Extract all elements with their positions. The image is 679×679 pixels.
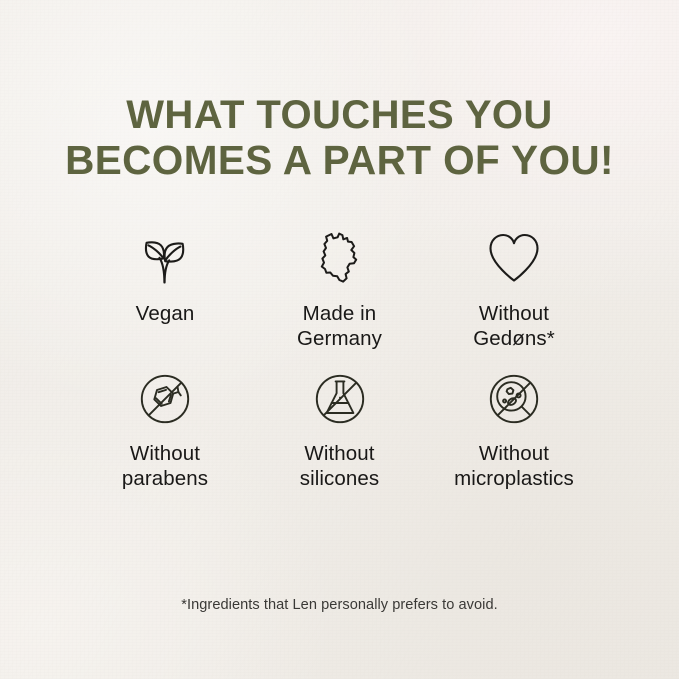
claim-vegan: Vegan	[78, 228, 252, 327]
claim-without-microplastics: Without microplastics	[427, 369, 601, 491]
claim-label: Without Gedøns*	[473, 302, 555, 351]
claim-without-silicones: Without silicones	[253, 369, 427, 491]
claims-row-1: Vegan Made in Germany Without Gedø	[78, 228, 601, 351]
claim-label: Without parabens	[122, 442, 208, 491]
claims-grid: Vegan Made in Germany Without Gedø	[78, 228, 601, 491]
claim-label: Without silicones	[300, 442, 380, 491]
no-silicones-flask-icon	[311, 369, 369, 429]
no-microplastics-magnifier-icon	[485, 369, 543, 429]
headline-line-2: BECOMES A PART OF YOU!	[0, 138, 679, 183]
claims-row-2: Without parabens Without s	[78, 369, 601, 491]
claim-without-gedoens: Without Gedøns*	[427, 228, 601, 351]
product-claims-infographic: WHAT TOUCHES YOU BECOMES A PART OF YOU!	[0, 0, 679, 679]
headline-line-1: WHAT TOUCHES YOU	[0, 93, 679, 138]
claim-label: Vegan	[136, 302, 195, 327]
footnote: *Ingredients that Len personally prefers…	[0, 597, 679, 613]
claim-label: Without microplastics	[454, 442, 574, 491]
germany-map-icon	[313, 228, 367, 288]
no-parabens-molecule-icon	[136, 369, 194, 429]
heart-outline-icon	[483, 228, 545, 288]
page-title: WHAT TOUCHES YOU BECOMES A PART OF YOU!	[0, 93, 679, 183]
claim-label: Made in Germany	[297, 302, 382, 351]
claim-made-in-germany: Made in Germany	[253, 228, 427, 351]
claim-without-parabens: Without parabens	[78, 369, 252, 491]
sprout-leaves-icon	[135, 228, 195, 288]
